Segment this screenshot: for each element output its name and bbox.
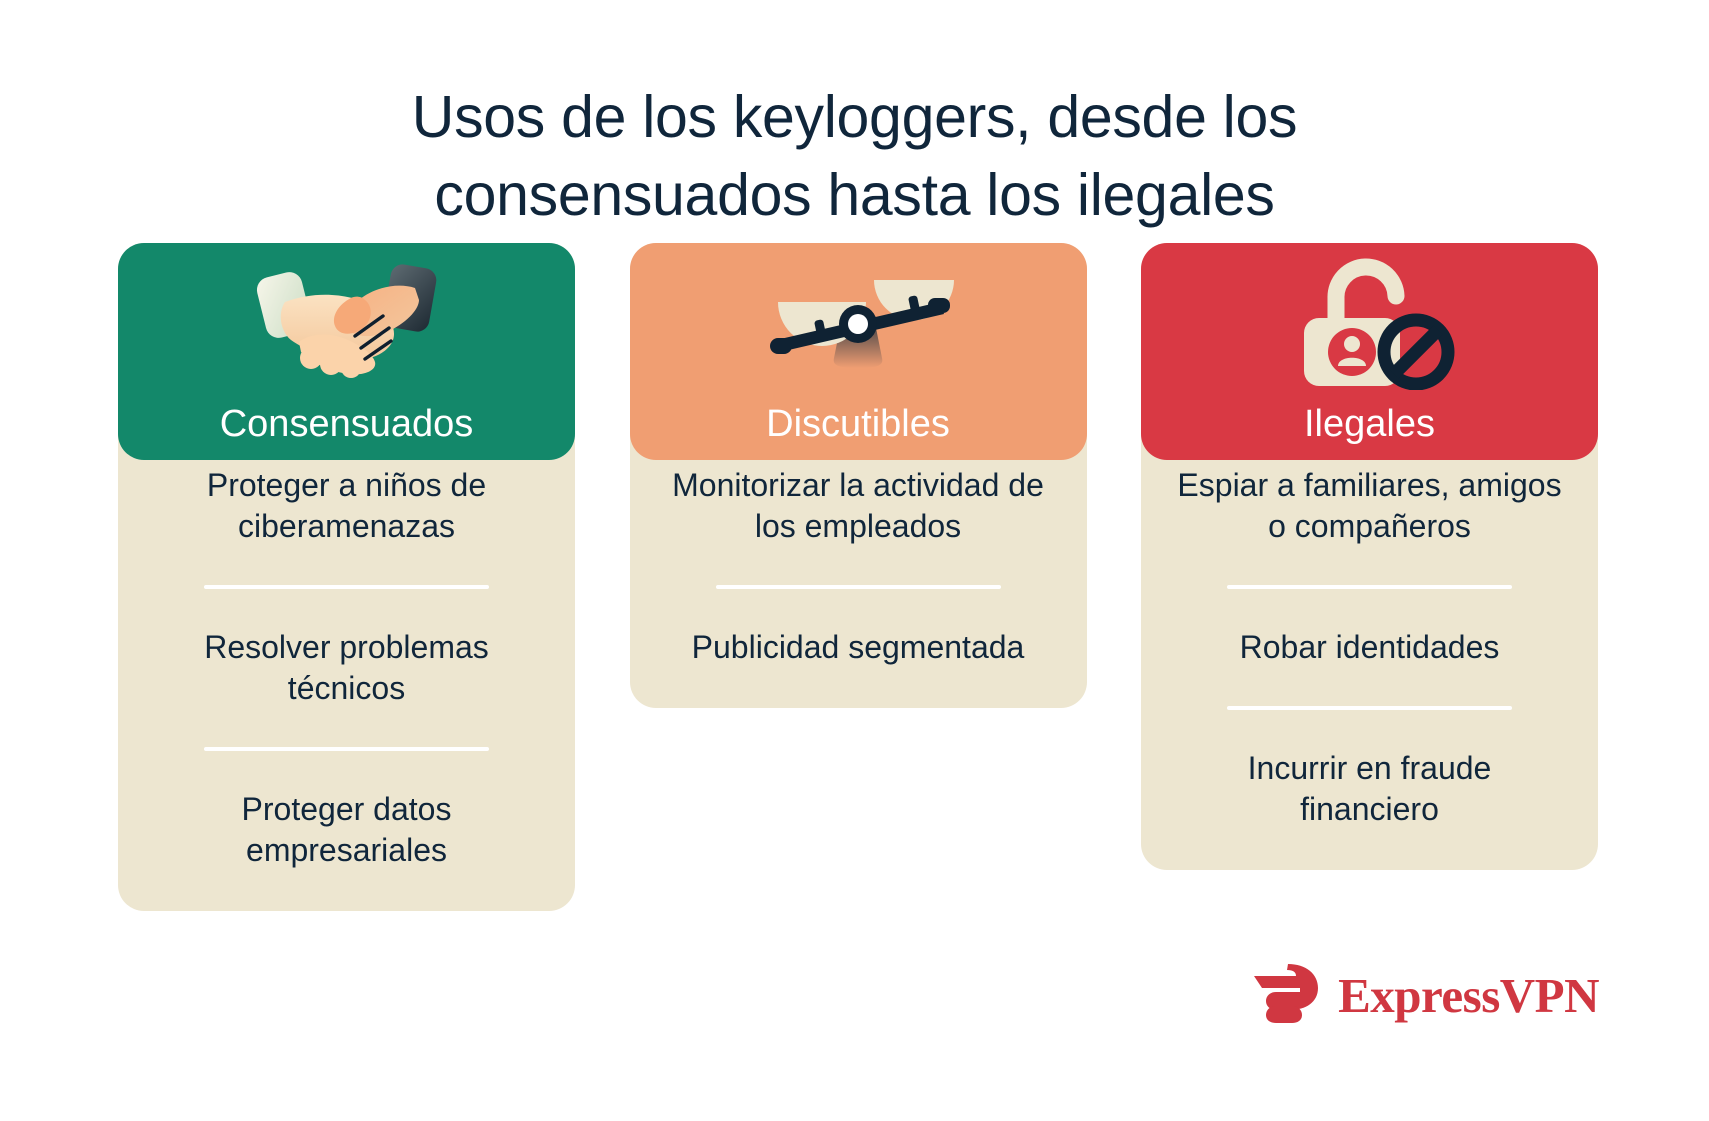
cards-row: Consensuados Proteger a niños de ciberam… [118,243,1598,911]
list-item: Espiar a familiares, amigos o compañeros [1141,465,1598,547]
list-item: Proteger a niños de ciberamenazas [118,465,575,547]
unlocked-padlock-prohibited-icon [1141,257,1598,391]
list-item: Robar identidades [1141,627,1598,668]
item-divider [1227,706,1512,710]
list-item: Monitorizar la actividad de los empleado… [630,465,1087,547]
card-header-consensuados: Consensuados [118,243,575,460]
card-consensuados: Consensuados Proteger a niños de ciberam… [118,243,575,911]
page-title-line-1: Usos de los keyloggers, desde los [0,78,1709,156]
balance-scale-icon [630,257,1087,391]
expressvpn-wordmark: ExpressVPN [1338,971,1599,1020]
item-divider [204,585,489,589]
card-title-ilegales: Ilegales [1304,404,1435,446]
card-title-consensuados: Consensuados [220,404,474,446]
card-discutibles: Discutibles Monitorizar la actividad de … [630,243,1087,708]
handshake-icon [118,257,575,391]
page-title: Usos de los keyloggers, desde los consen… [0,78,1709,235]
infographic-page: Usos de los keyloggers, desde los consen… [0,0,1709,1121]
item-divider [1227,585,1512,589]
card-title-discutibles: Discutibles [766,404,950,446]
page-title-line-2: consensuados hasta los ilegales [0,156,1709,234]
expressvpn-e-mark-icon [1252,962,1322,1029]
list-item: Publicidad segmentada [630,627,1087,668]
card-header-ilegales: Ilegales [1141,243,1598,460]
card-ilegales: Ilegales Espiar a familiares, amigos o c… [1141,243,1598,870]
expressvpn-logo: ExpressVPN [1252,962,1599,1029]
item-divider [204,747,489,751]
list-item: Proteger datos empresariales [118,789,575,871]
list-item: Resolver problemas técnicos [118,627,575,709]
item-divider [716,585,1001,589]
card-header-discutibles: Discutibles [630,243,1087,460]
list-item: Incurrir en fraude financiero [1141,748,1598,830]
